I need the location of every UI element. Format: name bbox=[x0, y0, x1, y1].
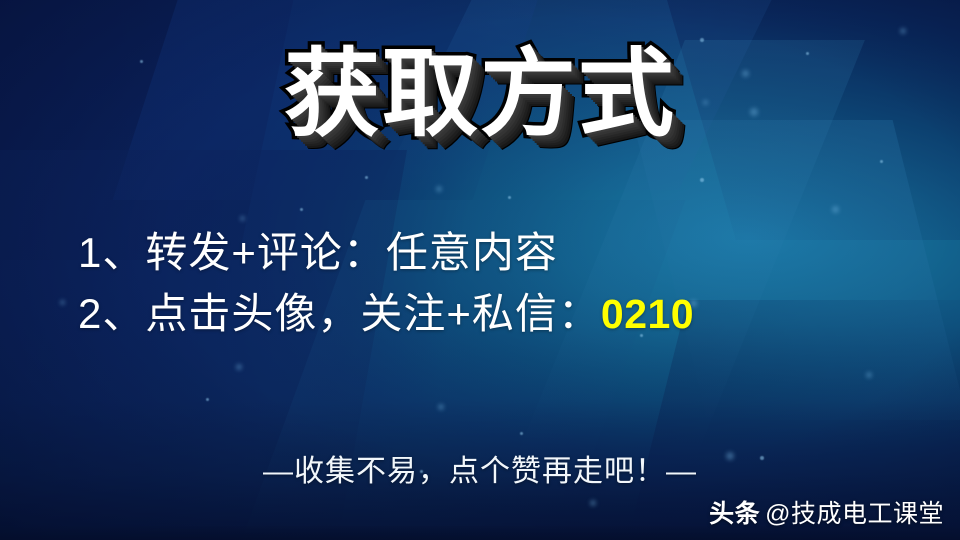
watermark-brand: 头条 bbox=[709, 500, 760, 528]
presentation-slide: 获取方式 1、转发+评论：任意内容 2、点击头像，关注+私信：0210 —收集不… bbox=[0, 0, 960, 540]
step-1-text: 1、转发+评论：任意内容 bbox=[78, 229, 558, 276]
steps-list: 1、转发+评论：任意内容 2、点击头像，关注+私信：0210 bbox=[78, 222, 694, 345]
watermark-handle: @技成电工课堂 bbox=[765, 500, 944, 528]
page-title: 获取方式 bbox=[284, 44, 676, 146]
list-item: 1、转发+评论：任意内容 bbox=[78, 222, 694, 283]
step-2-text: 2、点击头像，关注+私信： bbox=[78, 290, 601, 337]
footer-note: —收集不易，点个赞再走吧！— bbox=[0, 446, 960, 490]
title-container: 获取方式 bbox=[0, 44, 960, 146]
watermark: 头条@技成电工课堂 bbox=[709, 494, 944, 530]
private-message-code: 0210 bbox=[601, 291, 694, 337]
list-item: 2、点击头像，关注+私信：0210 bbox=[78, 283, 694, 345]
